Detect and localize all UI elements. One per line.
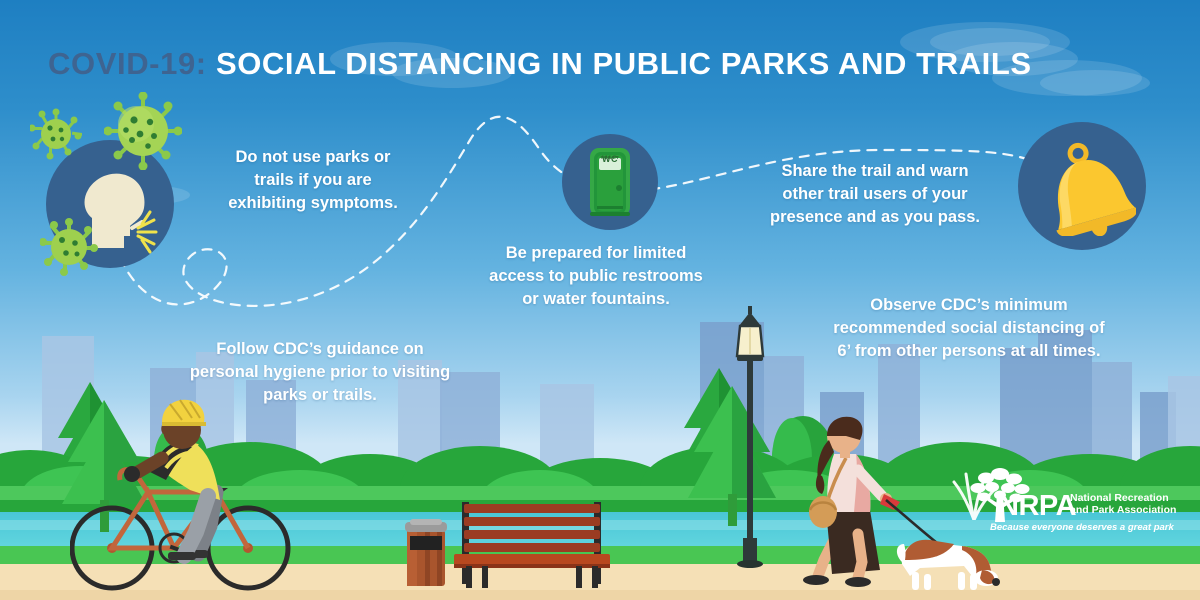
tip-caption-restrooms: Be prepared for limited access to public… — [462, 242, 730, 311]
caption-line: Do not use parks or — [178, 146, 448, 169]
tip-caption-share-trail: Share the trail and warn other trail use… — [736, 160, 1014, 229]
tip-caption-symptoms: Do not use parks or trails if you are ex… — [178, 146, 448, 215]
virus-particle-icon — [30, 108, 82, 160]
infographic-poster: COVID-19: SOCIAL DISTANCING IN PUBLIC PA… — [0, 0, 1200, 600]
nrpa-fullname-line2: and Park Association — [1070, 504, 1176, 516]
bell-icon — [1040, 140, 1136, 236]
tip-caption-hygiene: Follow CDC’s guidance on personal hygien… — [146, 338, 494, 407]
caption-line: presence and as you pass. — [736, 206, 1014, 229]
virus-particle-icon — [104, 92, 182, 170]
caption-line: Share the trail and warn — [736, 160, 1014, 183]
virus-particle-icon — [40, 218, 98, 276]
trash-can — [404, 518, 448, 588]
caption-line: Follow CDC’s guidance on — [146, 338, 494, 361]
caption-line: Observe CDC’s minimum — [788, 294, 1150, 317]
caption-line: personal hygiene prior to visiting — [146, 361, 494, 384]
tip-caption-distance: Observe CDC’s minimum recommended social… — [788, 294, 1150, 363]
caption-line: exhibiting symptoms. — [178, 192, 448, 215]
nrpa-tagline: Because everyone deserves a great park — [990, 522, 1174, 533]
caption-line: access to public restrooms — [462, 265, 730, 288]
caption-line: parks or trails. — [146, 384, 494, 407]
cyclist-figure — [70, 396, 296, 594]
toilet-label-toilet: TOILET — [589, 155, 631, 160]
caption-line: 6’ from other persons at all times. — [788, 340, 1150, 363]
nrpa-fullname: National Recreation and Park Association — [1070, 492, 1176, 516]
caption-line: other trail users of your — [736, 183, 1014, 206]
caption-line: recommended social distancing of — [788, 317, 1150, 340]
caption-line: trails if you are — [178, 169, 448, 192]
caption-line: Be prepared for limited — [462, 242, 730, 265]
park-bench — [452, 502, 612, 588]
nrpa-logo[interactable]: NRPA National Recreation and Park Associ… — [962, 472, 1182, 544]
nrpa-wordmark: NRPA — [998, 490, 1076, 523]
nrpa-fullname-line1: National Recreation — [1070, 492, 1176, 504]
lamp-post — [728, 306, 772, 568]
caption-line: or water fountains. — [462, 288, 730, 311]
